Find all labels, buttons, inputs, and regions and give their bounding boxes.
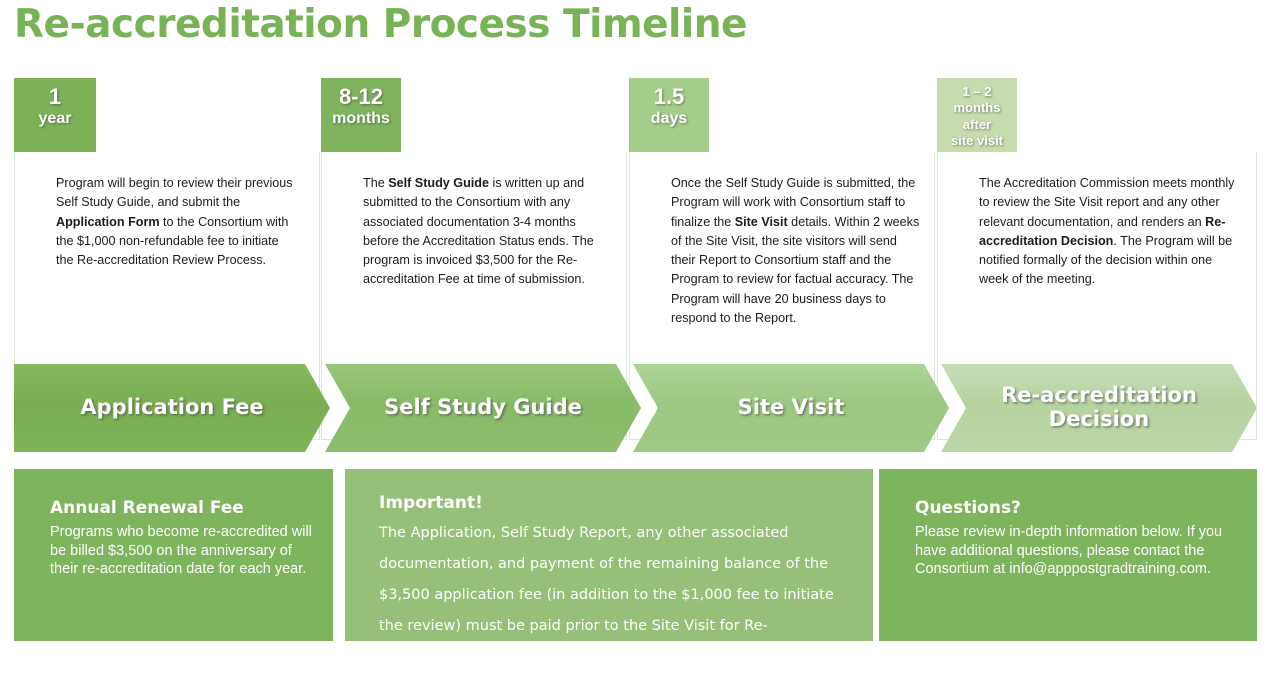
chevron-2-label: Self Study Guide xyxy=(384,396,582,420)
step-3-bold-term: Site Visit xyxy=(735,215,788,229)
step-4-duration-sub-months: months xyxy=(937,100,1017,116)
step-2-duration-sub: months xyxy=(321,110,401,128)
step-4-duration-sub-sitevisit: site visit xyxy=(937,133,1017,149)
page-title: Re-accreditation Process Timeline xyxy=(14,2,747,47)
chevron-re-accreditation-decision[interactable]: Re-accreditation Decision xyxy=(941,364,1257,452)
note-3-heading: Questions? xyxy=(915,498,1241,518)
chevron-application-fee[interactable]: Application Fee xyxy=(14,364,330,452)
step-1-duration-sub: year xyxy=(14,110,96,128)
note-annual-renewal-fee: Annual Renewal Fee Programs who become r… xyxy=(14,469,333,641)
chevron-3-label: Site Visit xyxy=(738,396,845,420)
step-4-bold-term: Re-accreditation Decision xyxy=(979,215,1225,248)
step-2-body-text: The Self Study Guide is written up and s… xyxy=(363,174,610,290)
step-2-bold-term: Self Study Guide xyxy=(388,176,489,190)
chevron-1-label: Application Fee xyxy=(80,396,263,420)
chevron-4-label: Re-accreditation Decision xyxy=(1001,384,1197,431)
note-questions: Questions? Please review in-depth inform… xyxy=(879,469,1257,641)
chevron-4-label-line1: Re-accreditation xyxy=(1001,383,1197,407)
step-4-duration-sub-after: after xyxy=(937,117,1017,133)
step-3-duration-badge: 1.5 days xyxy=(629,78,709,152)
step-4-body-text: The Accreditation Commission meets month… xyxy=(979,174,1242,290)
step-4-duration-badge: 1 – 2 months after site visit xyxy=(937,78,1017,152)
step-3-duration-sub: days xyxy=(629,110,709,128)
step-3-body-text: Once the Self Study Guide is submitted, … xyxy=(671,174,920,328)
step-1-duration-main: 1 xyxy=(49,84,61,109)
timeline-infographic: Re-accreditation Process Timeline 1 year… xyxy=(0,0,1271,646)
step-2-duration-main: 8-12 xyxy=(339,84,383,109)
step-2-duration-badge: 8-12 months xyxy=(321,78,401,152)
note-2-heading: Important! xyxy=(379,493,853,513)
step-1-duration-badge: 1 year xyxy=(14,78,96,152)
note-2-body: The Application, Self Study Report, any … xyxy=(379,518,853,673)
chevron-self-study-guide[interactable]: Self Study Guide xyxy=(325,364,641,452)
step-1-body-text: Program will begin to review their previ… xyxy=(56,174,295,270)
step-1-bold-term: Application Form xyxy=(56,215,160,229)
note-3-body: Please review in-depth information below… xyxy=(915,523,1241,579)
step-3-duration-main: 1.5 xyxy=(654,84,685,109)
note-1-heading: Annual Renewal Fee xyxy=(50,498,317,518)
step-4-duration-main: 1 – 2 xyxy=(963,84,992,99)
note-1-body: Programs who become re-accredited will b… xyxy=(50,523,317,579)
chevron-site-visit[interactable]: Site Visit xyxy=(633,364,949,452)
note-important: Important! The Application, Self Study R… xyxy=(345,469,873,641)
chevron-4-label-line2: Decision xyxy=(1049,407,1149,431)
